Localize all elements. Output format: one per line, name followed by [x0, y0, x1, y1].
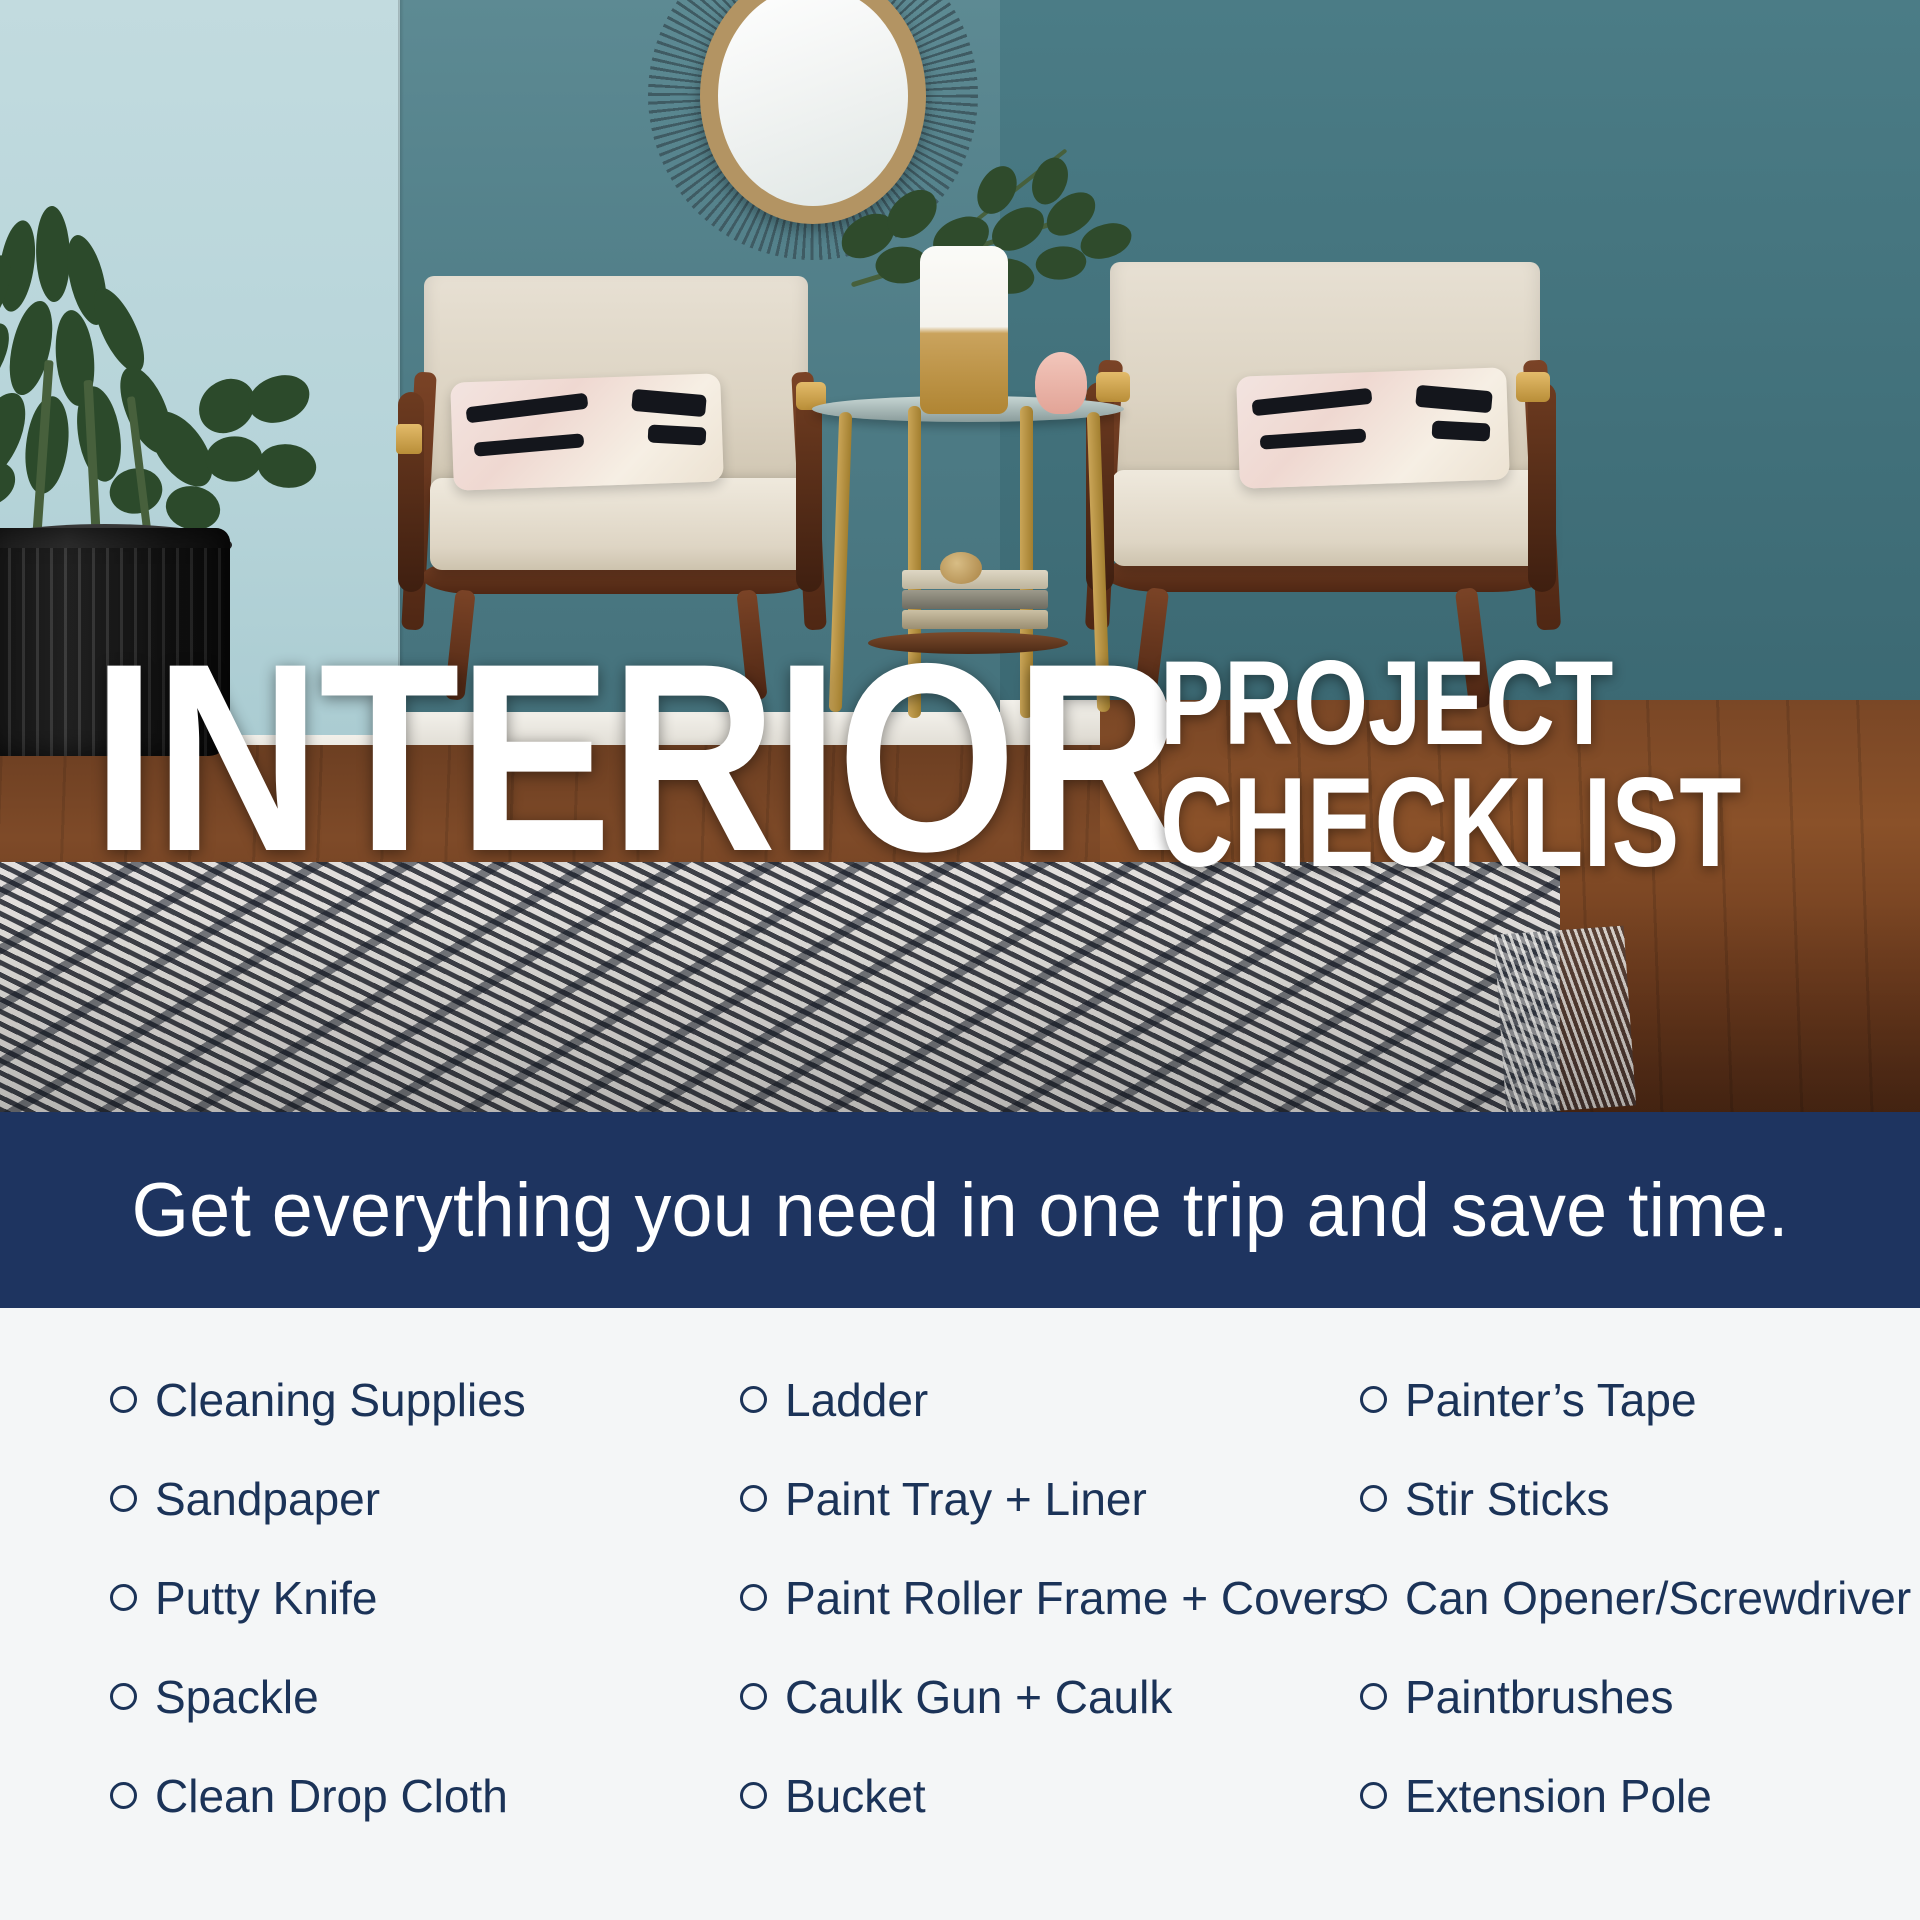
list-item[interactable]: Sandpaper [110, 1449, 740, 1548]
checkbox-circle-icon[interactable] [1360, 1782, 1387, 1809]
list-item-label: Painter’s Tape [1405, 1377, 1697, 1423]
checklist-section: Cleaning Supplies Sandpaper Putty Knife … [0, 1308, 1920, 1920]
list-item-label: Putty Knife [155, 1575, 377, 1621]
checkbox-circle-icon[interactable] [1360, 1386, 1387, 1413]
list-item-label: Spackle [155, 1674, 319, 1720]
list-item[interactable]: Painter’s Tape [1360, 1350, 1870, 1449]
checkbox-circle-icon[interactable] [740, 1683, 767, 1710]
list-item[interactable]: Paintbrushes [1360, 1647, 1870, 1746]
checklist-columns: Cleaning Supplies Sandpaper Putty Knife … [110, 1350, 1870, 1845]
potted-plant [0, 200, 340, 560]
lotus-pod-decor [940, 552, 982, 584]
list-item-label: Caulk Gun + Caulk [785, 1674, 1172, 1720]
planter-ribs [0, 548, 230, 756]
list-item-label: Cleaning Supplies [155, 1377, 526, 1423]
list-item[interactable]: Paint Roller Frame + Covers [740, 1548, 1360, 1647]
list-item-label: Clean Drop Cloth [155, 1773, 508, 1819]
list-item[interactable]: Spackle [110, 1647, 740, 1746]
small-pink-vase [1035, 352, 1087, 414]
project-checklist-poster: INTERIOR PROJECT CHECKLIST Get everythin… [0, 0, 1920, 1920]
checkbox-circle-icon[interactable] [740, 1386, 767, 1413]
room-photo [0, 0, 1920, 1112]
list-item-label: Paint Roller Frame + Covers [785, 1575, 1367, 1621]
wall-corner-shadow [398, 0, 404, 780]
list-item[interactable]: Ladder [740, 1350, 1360, 1449]
checkbox-circle-icon[interactable] [110, 1584, 137, 1611]
list-item-label: Paintbrushes [1405, 1674, 1674, 1720]
checklist-column-2: Ladder Paint Tray + Liner Paint Roller F… [740, 1350, 1360, 1845]
checkbox-circle-icon[interactable] [110, 1683, 137, 1710]
checklist-column-3: Painter’s Tape Stir Sticks Can Opener/Sc… [1360, 1350, 1870, 1845]
tagline-banner: Get everything you need in one trip and … [0, 1112, 1920, 1308]
list-item[interactable]: Clean Drop Cloth [110, 1746, 740, 1845]
checkbox-circle-icon[interactable] [740, 1485, 767, 1512]
list-item[interactable]: Caulk Gun + Caulk [740, 1647, 1360, 1746]
list-item[interactable]: Paint Tray + Liner [740, 1449, 1360, 1548]
photo-bottom-fade [0, 900, 1920, 1112]
list-item-label: Bucket [785, 1773, 926, 1819]
checkbox-circle-icon[interactable] [740, 1584, 767, 1611]
list-item-label: Paint Tray + Liner [785, 1476, 1147, 1522]
list-item-label: Extension Pole [1405, 1773, 1712, 1819]
checkbox-circle-icon[interactable] [1360, 1683, 1387, 1710]
checkbox-circle-icon[interactable] [110, 1782, 137, 1809]
list-item-label: Sandpaper [155, 1476, 380, 1522]
checklist-column-1: Cleaning Supplies Sandpaper Putty Knife … [110, 1350, 740, 1845]
list-item[interactable]: Stir Sticks [1360, 1449, 1870, 1548]
checkbox-circle-icon[interactable] [1360, 1485, 1387, 1512]
checkbox-circle-icon[interactable] [1360, 1584, 1387, 1611]
checkbox-circle-icon[interactable] [110, 1386, 137, 1413]
tagline-text: Get everything you need in one trip and … [131, 1167, 1788, 1254]
checkbox-circle-icon[interactable] [740, 1782, 767, 1809]
list-item[interactable]: Cleaning Supplies [110, 1350, 740, 1449]
list-item[interactable]: Putty Knife [110, 1548, 740, 1647]
list-item[interactable]: Extension Pole [1360, 1746, 1870, 1845]
list-item-label: Stir Sticks [1405, 1476, 1609, 1522]
list-item[interactable]: Bucket [740, 1746, 1360, 1845]
list-item-label: Ladder [785, 1377, 928, 1423]
checkbox-circle-icon[interactable] [110, 1485, 137, 1512]
list-item[interactable]: Can Opener/Screwdriver [1360, 1548, 1870, 1647]
list-item-label: Can Opener/Screwdriver [1405, 1575, 1911, 1621]
tall-vase [920, 246, 1008, 414]
